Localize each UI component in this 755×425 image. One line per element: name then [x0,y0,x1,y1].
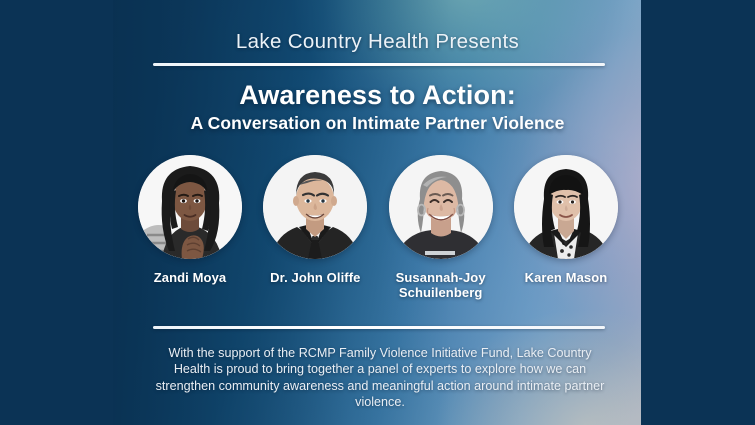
speaker-card: Dr. John Oliffe [263,155,367,285]
poster-content: Lake Country Health Presents Awareness t… [0,0,755,425]
portrait-susannah-joy-schuilenberg [389,155,493,259]
speaker-name: Karen Mason [525,270,608,285]
speaker-card: Zandi Moya [138,155,242,285]
speaker-card: Karen Mason [514,155,618,285]
presenter-line: Lake Country Health Presents [0,30,755,54]
speaker-list: Zandi Moya [138,155,618,305]
speaker-name: Susannah-Joy Schuilenberg [389,270,493,300]
speaker-name: Dr. John Oliffe [270,270,360,285]
speaker-name: Zandi Moya [154,270,227,285]
page-subtitle: A Conversation on Intimate Partner Viole… [0,113,755,134]
event-description: With the support of the RCMP Family Viol… [152,345,608,411]
page-title: Awareness to Action: [0,80,755,111]
speaker-card: Susannah-Joy Schuilenberg [389,155,493,300]
divider-bottom [153,326,605,329]
divider-top [153,63,605,66]
portrait-zandi-moya [138,155,242,259]
event-promo-poster: Lake Country Health Presents Awareness t… [0,0,755,425]
portrait-karen-mason [514,155,618,259]
portrait-john-oliffe [263,155,367,259]
